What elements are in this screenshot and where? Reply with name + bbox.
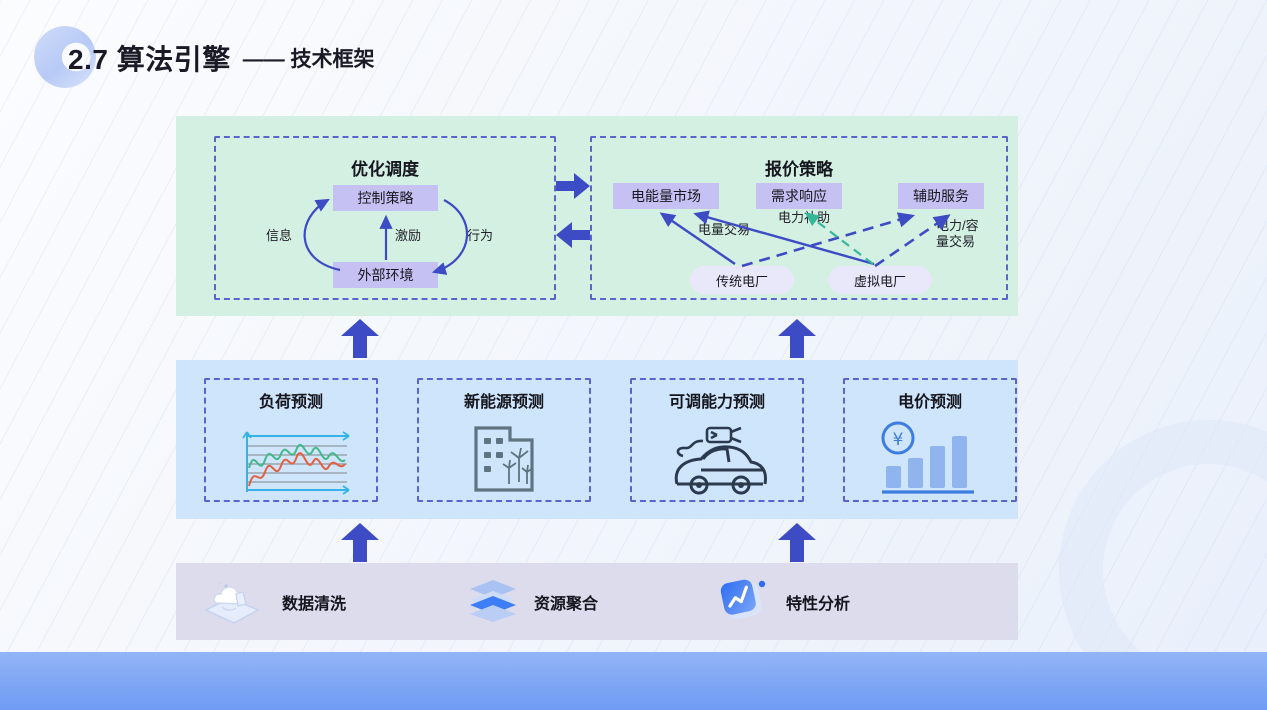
page-title-sub: —— 技术框架 [243, 43, 375, 73]
analytics-chart-icon [716, 575, 772, 630]
load-curve-icon [206, 420, 376, 498]
price-bars-icon: ¥ [845, 420, 1015, 498]
card-adjustable-capacity-forecast[interactable]: 可调能力预测 [630, 378, 804, 502]
card-renewable-forecast-label: 新能源预测 [419, 388, 589, 412]
optimization-loop-arrows [216, 138, 558, 302]
bottom-item-resource-aggregation[interactable]: 资源聚合 [466, 577, 598, 627]
footer-bar [0, 652, 1267, 710]
page-title-main: 2.7 算法引擎 [68, 38, 231, 78]
up-arrow-left-to-mid [338, 522, 382, 564]
wind-plant-icon [419, 420, 589, 498]
card-price-forecast[interactable]: 电价预测 ¥ [843, 378, 1017, 502]
layers-icon [466, 576, 520, 629]
bottom-item-data-cleaning[interactable]: 数据清洗 [196, 577, 346, 627]
bidding-flow-arrows [592, 138, 1010, 302]
top-band: 优化调度 控制策略 外部环境 信息 激励 行为 [176, 116, 1018, 316]
slide-canvas: 2.7 算法引擎 —— 技术框架 优化调度 控制策略 外部环境 信息 激励 行为 [0, 0, 1267, 710]
card-renewable-forecast[interactable]: 新能源预测 [417, 378, 591, 502]
up-arrow-left-to-top [338, 318, 382, 360]
up-arrow-right-to-top [775, 318, 819, 360]
card-load-forecast-label: 负荷预测 [206, 388, 376, 412]
optimization-scheduling-panel: 优化调度 控制策略 外部环境 信息 激励 行为 [214, 136, 556, 300]
arrow-right-icon [556, 173, 590, 199]
page-title: 2.7 算法引擎 —— 技术框架 [30, 28, 375, 88]
forecast-band: 负荷预测 [176, 360, 1018, 519]
data-layer-band: 数据清洗 资源聚合 [176, 563, 1018, 640]
bottom-item-feature-analysis[interactable]: 特性分析 [716, 577, 850, 627]
bidding-strategy-panel: 报价策略 电能量市场 需求响应 辅助服务 传统电厂 虚拟电厂 电量交易 电力补助… [590, 136, 1008, 300]
ev-charging-icon [632, 420, 802, 498]
bottom-item-data-cleaning-label: 数据清洗 [282, 590, 346, 614]
up-arrow-right-to-mid [775, 522, 819, 564]
bottom-item-feature-analysis-label: 特性分析 [786, 590, 850, 614]
svg-text:¥: ¥ [893, 430, 904, 450]
cloud-data-icon [196, 574, 268, 631]
card-price-forecast-label: 电价预测 [845, 388, 1015, 412]
bottom-item-resource-aggregation-label: 资源聚合 [534, 590, 598, 614]
card-adjustable-capacity-forecast-label: 可调能力预测 [632, 388, 802, 412]
arrow-left-icon [556, 222, 590, 248]
card-load-forecast[interactable]: 负荷预测 [204, 378, 378, 502]
